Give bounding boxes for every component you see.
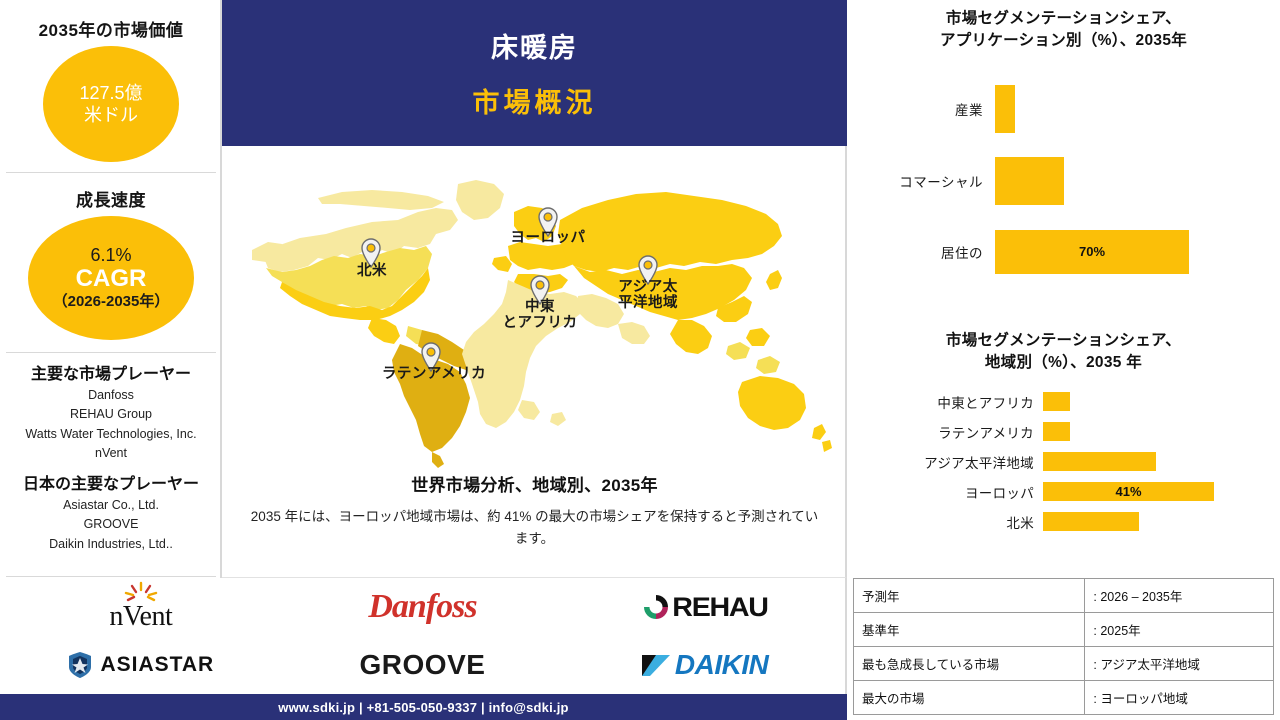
chart-regional-row: アジア太平洋地域	[847, 447, 1280, 477]
table-row: 最大の市場 : ヨーロッパ地域	[854, 681, 1274, 715]
logo-danfoss-text: Danfoss	[368, 588, 476, 626]
chart-regional-bar	[1043, 452, 1156, 471]
table-cell-value: : アジア太平洋地域	[1085, 647, 1274, 681]
chart-regional-category: 北米	[847, 512, 1043, 532]
chart-regional-category: ラテンアメリカ	[847, 422, 1043, 442]
map-label-asia-pacific: アジア太 平洋地域	[588, 279, 708, 311]
japan-player-item: Daikin Industries, Ltd..	[8, 535, 214, 554]
infographic-root: 2035年の市場価値 127.5億 米ドル 成長速度 6.1% CAGR （20…	[0, 0, 1280, 720]
chart-application-category: 産業	[847, 99, 995, 119]
logo-nvent: nVent	[109, 581, 172, 633]
chart-application-bar	[995, 157, 1064, 205]
footer-contact-text: www.sdki.jp | +81-505-050-9337 | info@sd…	[278, 700, 568, 715]
japan-player-item: Asiastar Co., Ltd.	[8, 496, 214, 515]
chart-regional-segmentation: 市場セグメンテーションシェア、 地域別（%）、2035 年 中東とアフリカ ラテ…	[847, 330, 1280, 537]
chart-application-category: コマーシャル	[847, 171, 995, 191]
chart-application-row: 産業	[847, 85, 1280, 133]
table-cell-key: 最大の市場	[854, 681, 1085, 715]
table-cell-value: : ヨーロッパ地域	[1085, 681, 1274, 715]
chart-regional-category: アジア太平洋地域	[847, 452, 1043, 472]
chart-application-bar: 70%	[995, 230, 1189, 274]
cagr-percent: 6.1%	[90, 245, 131, 266]
market-value-ellipse: 127.5億 米ドル	[43, 46, 179, 162]
chart-application-title-line1: 市場セグメンテーションシェア、	[847, 8, 1280, 30]
key-players-block: 主要な市場プレーヤー Danfoss REHAU Group Watts Wat…	[8, 360, 214, 464]
table-cell-key: 予測年	[854, 579, 1085, 613]
asiastar-shield-icon	[67, 651, 93, 679]
page-subtitle: 市場概況	[473, 81, 597, 120]
logo-asiastar-text: ASIASTAR	[100, 653, 214, 677]
cagr-years: （2026-2035年）	[53, 293, 170, 311]
market-value-line1: 127.5億	[79, 82, 142, 105]
key-player-item: Danfoss	[8, 386, 214, 405]
chart-application-category: 居住の	[847, 242, 995, 262]
logo-daikin: DAIKIN	[640, 649, 768, 681]
table-row: 最も急成長している市場 : アジア太平洋地域	[854, 647, 1274, 681]
chart-regional-category: 中東とアフリカ	[847, 392, 1043, 412]
world-map: 北米 ヨーロッパ アジア太 平洋地域 中東 とアフリカ ラテンアメリカ	[222, 150, 847, 470]
logo-danfoss: Danfoss	[368, 588, 476, 626]
chart-application-row: 居住の 70%	[847, 230, 1280, 274]
map-label-middle-east-africa: 中東 とアフリカ	[480, 299, 600, 331]
map-region-greenland	[456, 180, 504, 220]
market-value-block: 2035年の市場価値 127.5億 米ドル	[8, 16, 214, 162]
chart-regional-bar	[1043, 512, 1139, 531]
logo-rehau: REHAU	[643, 592, 765, 623]
market-value-line2: 米ドル	[84, 104, 138, 127]
chart-application-title-line2: アプリケーション別（%）、2035年	[847, 30, 1280, 52]
nvent-spark-icon	[118, 581, 164, 603]
logo-groove-text: GROOVE	[360, 649, 486, 681]
table-cell-key: 基準年	[854, 613, 1085, 647]
chart-regional-plot: 中東とアフリカ ラテンアメリカ アジア太平洋地域	[847, 387, 1280, 537]
key-player-item: REHAU Group	[8, 405, 214, 424]
table-cell-value: : 2025年	[1085, 613, 1274, 647]
chart-application-segmentation: 市場セグメンテーションシェア、 アプリケーション別（%）、2035年 産業 コマ…	[847, 8, 1280, 283]
sidebar-divider-1	[6, 172, 216, 173]
growth-rate-block: 成長速度 6.1% CAGR （2026-2035年）	[8, 186, 214, 340]
map-label-north-america: 北米	[322, 263, 422, 279]
chart-regional-row: ヨーロッパ 41%	[847, 477, 1280, 507]
chart-application-bar	[995, 85, 1015, 133]
table-row: 予測年 : 2026 – 2035年	[854, 579, 1274, 613]
rehau-mark-icon	[643, 594, 669, 620]
table-row: 基準年 : 2025年	[854, 613, 1274, 647]
chart-regional-bar: 41%	[1043, 482, 1214, 501]
map-caption: 世界市場分析、地域別、2035年 2035 年には、ヨーロッパ地域市場は、約 4…	[222, 471, 847, 549]
japan-players-block: 日本の主要なプレーヤー Asiastar Co., Ltd. GROOVE Da…	[8, 470, 214, 554]
japan-player-item: GROOVE	[8, 515, 214, 534]
map-caption-body: 2035 年には、ヨーロッパ地域市場は、約 41% の最大の市場シェアを保持する…	[222, 506, 847, 549]
chart-regional-bar	[1043, 422, 1070, 441]
key-players-heading: 主要な市場プレーヤー	[8, 360, 214, 384]
market-value-heading: 2035年の市場価値	[8, 16, 214, 41]
logo-daikin-text: DAIKIN	[675, 649, 768, 681]
key-player-item: Watts Water Technologies, Inc.	[8, 425, 214, 444]
chart-application-plot: 産業 コマーシャル 居住の 70%	[847, 75, 1280, 283]
logo-asiastar: ASIASTAR	[67, 651, 214, 679]
growth-rate-heading: 成長速度	[8, 186, 214, 211]
header-banner: 床暖房 市場概況	[222, 0, 847, 146]
chart-application-row: コマーシャル	[847, 157, 1280, 205]
daikin-mark-icon	[640, 652, 672, 678]
table-cell-key: 最も急成長している市場	[854, 647, 1085, 681]
chart-regional-title: 市場セグメンテーションシェア、 地域別（%）、2035 年	[847, 330, 1280, 375]
partner-logos-strip: nVent Danfoss REHAU	[0, 578, 847, 694]
cagr-label: CAGR	[76, 266, 147, 292]
chart-regional-bar-value: 41%	[1115, 484, 1141, 499]
chart-regional-title-line1: 市場セグメンテーションシェア、	[847, 330, 1280, 352]
table-cell-value: : 2026 – 2035年	[1085, 579, 1274, 613]
footer-bar: www.sdki.jp | +81-505-050-9337 | info@sd…	[0, 694, 847, 720]
chart-regional-row: ラテンアメリカ	[847, 417, 1280, 447]
logo-groove: GROOVE	[360, 649, 486, 681]
logo-rehau-text: REHAU	[672, 592, 767, 623]
cagr-ellipse: 6.1% CAGR （2026-2035年）	[28, 216, 194, 340]
chart-application-title: 市場セグメンテーションシェア、 アプリケーション別（%）、2035年	[847, 8, 1280, 53]
page-title: 床暖房	[491, 26, 578, 65]
map-panel: 北米 ヨーロッパ アジア太 平洋地域 中東 とアフリカ ラテンアメリカ 世界市場…	[222, 146, 847, 578]
chart-regional-row: 北米	[847, 507, 1280, 537]
chart-regional-title-line2: 地域別（%）、2035 年	[847, 352, 1280, 374]
sidebar-divider-2	[6, 352, 216, 353]
key-player-item: nVent	[8, 444, 214, 463]
chart-application-bar-value: 70%	[1079, 244, 1105, 259]
chart-regional-row: 中東とアフリカ	[847, 387, 1280, 417]
logo-nvent-text: nVent	[109, 601, 172, 632]
map-caption-title: 世界市場分析、地域別、2035年	[222, 471, 847, 496]
map-label-latin-america: ラテンアメリカ	[354, 366, 514, 382]
chart-regional-category: ヨーロッパ	[847, 482, 1043, 502]
japan-players-heading: 日本の主要なプレーヤー	[8, 470, 214, 494]
map-label-europe: ヨーロッパ	[478, 230, 618, 246]
left-sidebar: 2035年の市場価値 127.5億 米ドル 成長速度 6.1% CAGR （20…	[0, 0, 222, 578]
summary-info-table: 予測年 : 2026 – 2035年 基準年 : 2025年 最も急成長している…	[853, 578, 1274, 715]
chart-regional-bar	[1043, 392, 1070, 411]
sidebar-divider-3	[6, 576, 216, 577]
